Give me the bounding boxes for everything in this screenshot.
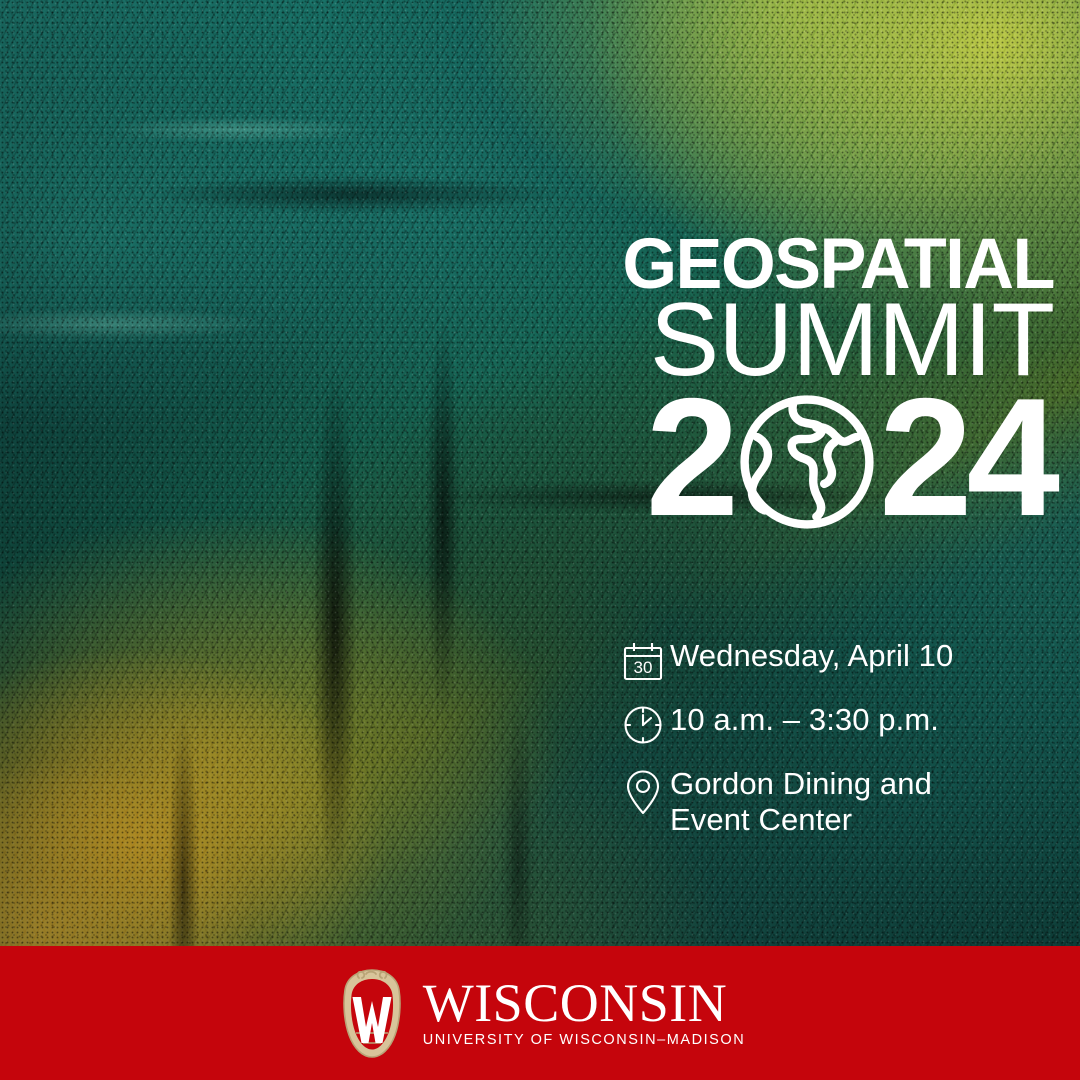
year-digit-first: 2 xyxy=(646,384,733,532)
detail-text-date: Wednesday, April 10 xyxy=(670,636,953,674)
event-title-block: GEOSPATIAL SUMMIT 2 24 xyxy=(494,232,1054,536)
poster-canvas: GEOSPATIAL SUMMIT 2 24 xyxy=(0,0,1080,1080)
uw-madison-logo[interactable]: WISCONSIN UNIVERSITY OF WISCONSIN–MADISO… xyxy=(335,965,746,1061)
calendar-icon: 30 xyxy=(616,636,670,686)
wordmark-subline: UNIVERSITY OF WISCONSIN–MADISON xyxy=(423,1032,746,1048)
uw-wordmark: WISCONSIN UNIVERSITY OF WISCONSIN–MADISO… xyxy=(423,978,746,1049)
detail-text-time: 10 a.m. – 3:30 p.m. xyxy=(670,700,939,738)
calendar-day-number: 30 xyxy=(634,658,653,677)
detail-row-date: 30 Wednesday, April 10 xyxy=(616,636,1036,686)
title-line-summit: SUMMIT xyxy=(494,295,1054,387)
year-digits-last: 24 xyxy=(879,384,1054,532)
detail-row-time: 10 a.m. – 3:30 p.m. xyxy=(616,700,1036,750)
detail-row-location: Gordon Dining and Event Center xyxy=(616,764,1036,838)
uw-crest-w-icon xyxy=(335,965,409,1061)
event-details-list: 30 Wednesday, April 10 xyxy=(616,636,1036,838)
location-pin-icon xyxy=(616,764,670,818)
clock-icon xyxy=(616,700,670,750)
title-year-2024: 2 24 xyxy=(494,380,1054,536)
globe-icon xyxy=(729,384,885,540)
detail-text-location: Gordon Dining and Event Center xyxy=(670,764,932,838)
wordmark-wisconsin: WISCONSIN xyxy=(423,978,746,1030)
uw-madison-footer-banner: WISCONSIN UNIVERSITY OF WISCONSIN–MADISO… xyxy=(0,946,1080,1080)
